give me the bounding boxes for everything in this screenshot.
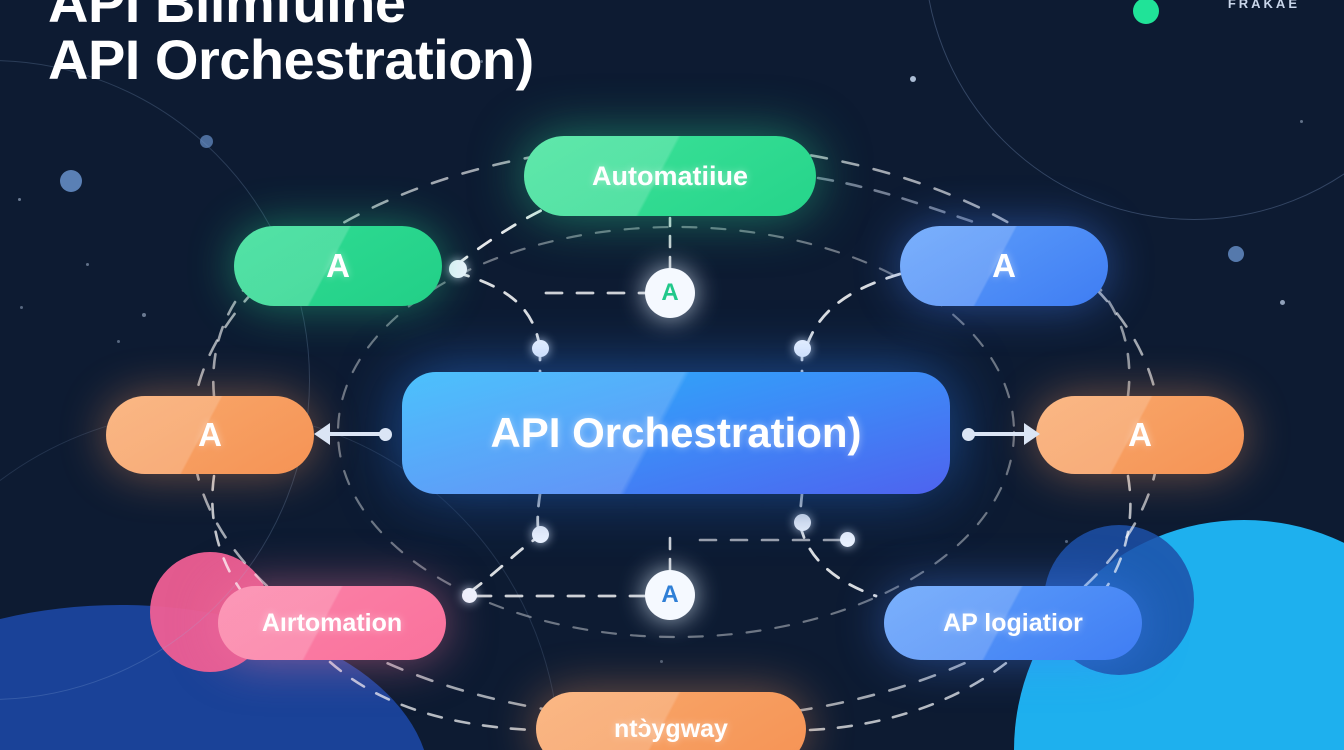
junction-dot xyxy=(532,340,549,357)
node-gateway-bottom[interactable]: ntɔ̀ygway xyxy=(536,692,806,750)
arrow-knob xyxy=(962,428,975,441)
node-a-orange-right[interactable]: A xyxy=(1036,396,1244,474)
arrow-head xyxy=(1024,423,1040,445)
node-label: A xyxy=(992,247,1016,285)
node-label: ntɔ̀ygway xyxy=(614,715,728,744)
link-green-a-to-center xyxy=(455,272,540,348)
node-label: Aırtomation xyxy=(262,609,402,638)
link-pink-junction-horizontal xyxy=(470,536,540,592)
link-orange-bottom-to-blue-br xyxy=(810,660,1010,730)
node-label: A xyxy=(1128,416,1152,454)
arrow-shaft xyxy=(324,432,382,436)
arrow-right-icon xyxy=(962,423,1040,445)
node-a-blue-right[interactable]: A xyxy=(900,226,1108,306)
arrow-head xyxy=(314,423,330,445)
node-label: Automatiiue xyxy=(592,161,748,192)
junction-dot xyxy=(794,514,811,531)
circle-badge-a-green-icon[interactable]: A xyxy=(645,268,695,318)
badge-label: A xyxy=(661,581,678,609)
link-blue-br-junction xyxy=(800,524,876,596)
node-automation-pink[interactable]: Aırtomation xyxy=(218,586,446,660)
junction-dot xyxy=(449,260,467,278)
node-a-orange-left[interactable]: A xyxy=(106,396,314,474)
link-top-to-blue-a xyxy=(818,178,980,224)
node-a-green-left[interactable]: A xyxy=(234,226,442,306)
junction-dot xyxy=(462,588,477,603)
arrow-shaft xyxy=(972,432,1030,436)
node-label: AP logiatior xyxy=(943,609,1083,638)
node-label: A xyxy=(326,247,350,285)
corner-label: FRAKAE xyxy=(1228,0,1300,11)
diagram-canvas: API Bilmfulne API Orchestration) FRAKAE … xyxy=(0,0,1344,750)
junction-dot xyxy=(840,532,855,547)
badge-label: A xyxy=(661,279,678,307)
junction-dot xyxy=(794,340,811,357)
arrow-knob xyxy=(379,428,392,441)
node-ap-logiatior[interactable]: AP logiatior xyxy=(884,586,1142,660)
junction-dot xyxy=(532,526,549,543)
circle-badge-a-blue-icon[interactable]: A xyxy=(645,570,695,620)
node-automation-top[interactable]: Automatiiue xyxy=(524,136,816,216)
node-api-orchestration-center[interactable]: API Orchestration) xyxy=(402,372,950,494)
node-label: API Orchestration) xyxy=(490,409,861,457)
page-title: API Bilmfulne API Orchestration) xyxy=(48,0,534,88)
arrow-left-icon xyxy=(314,423,392,445)
node-label: A xyxy=(198,416,222,454)
link-pink-to-orange-bottom xyxy=(330,662,532,730)
link-blue-a-to-center xyxy=(806,274,900,348)
